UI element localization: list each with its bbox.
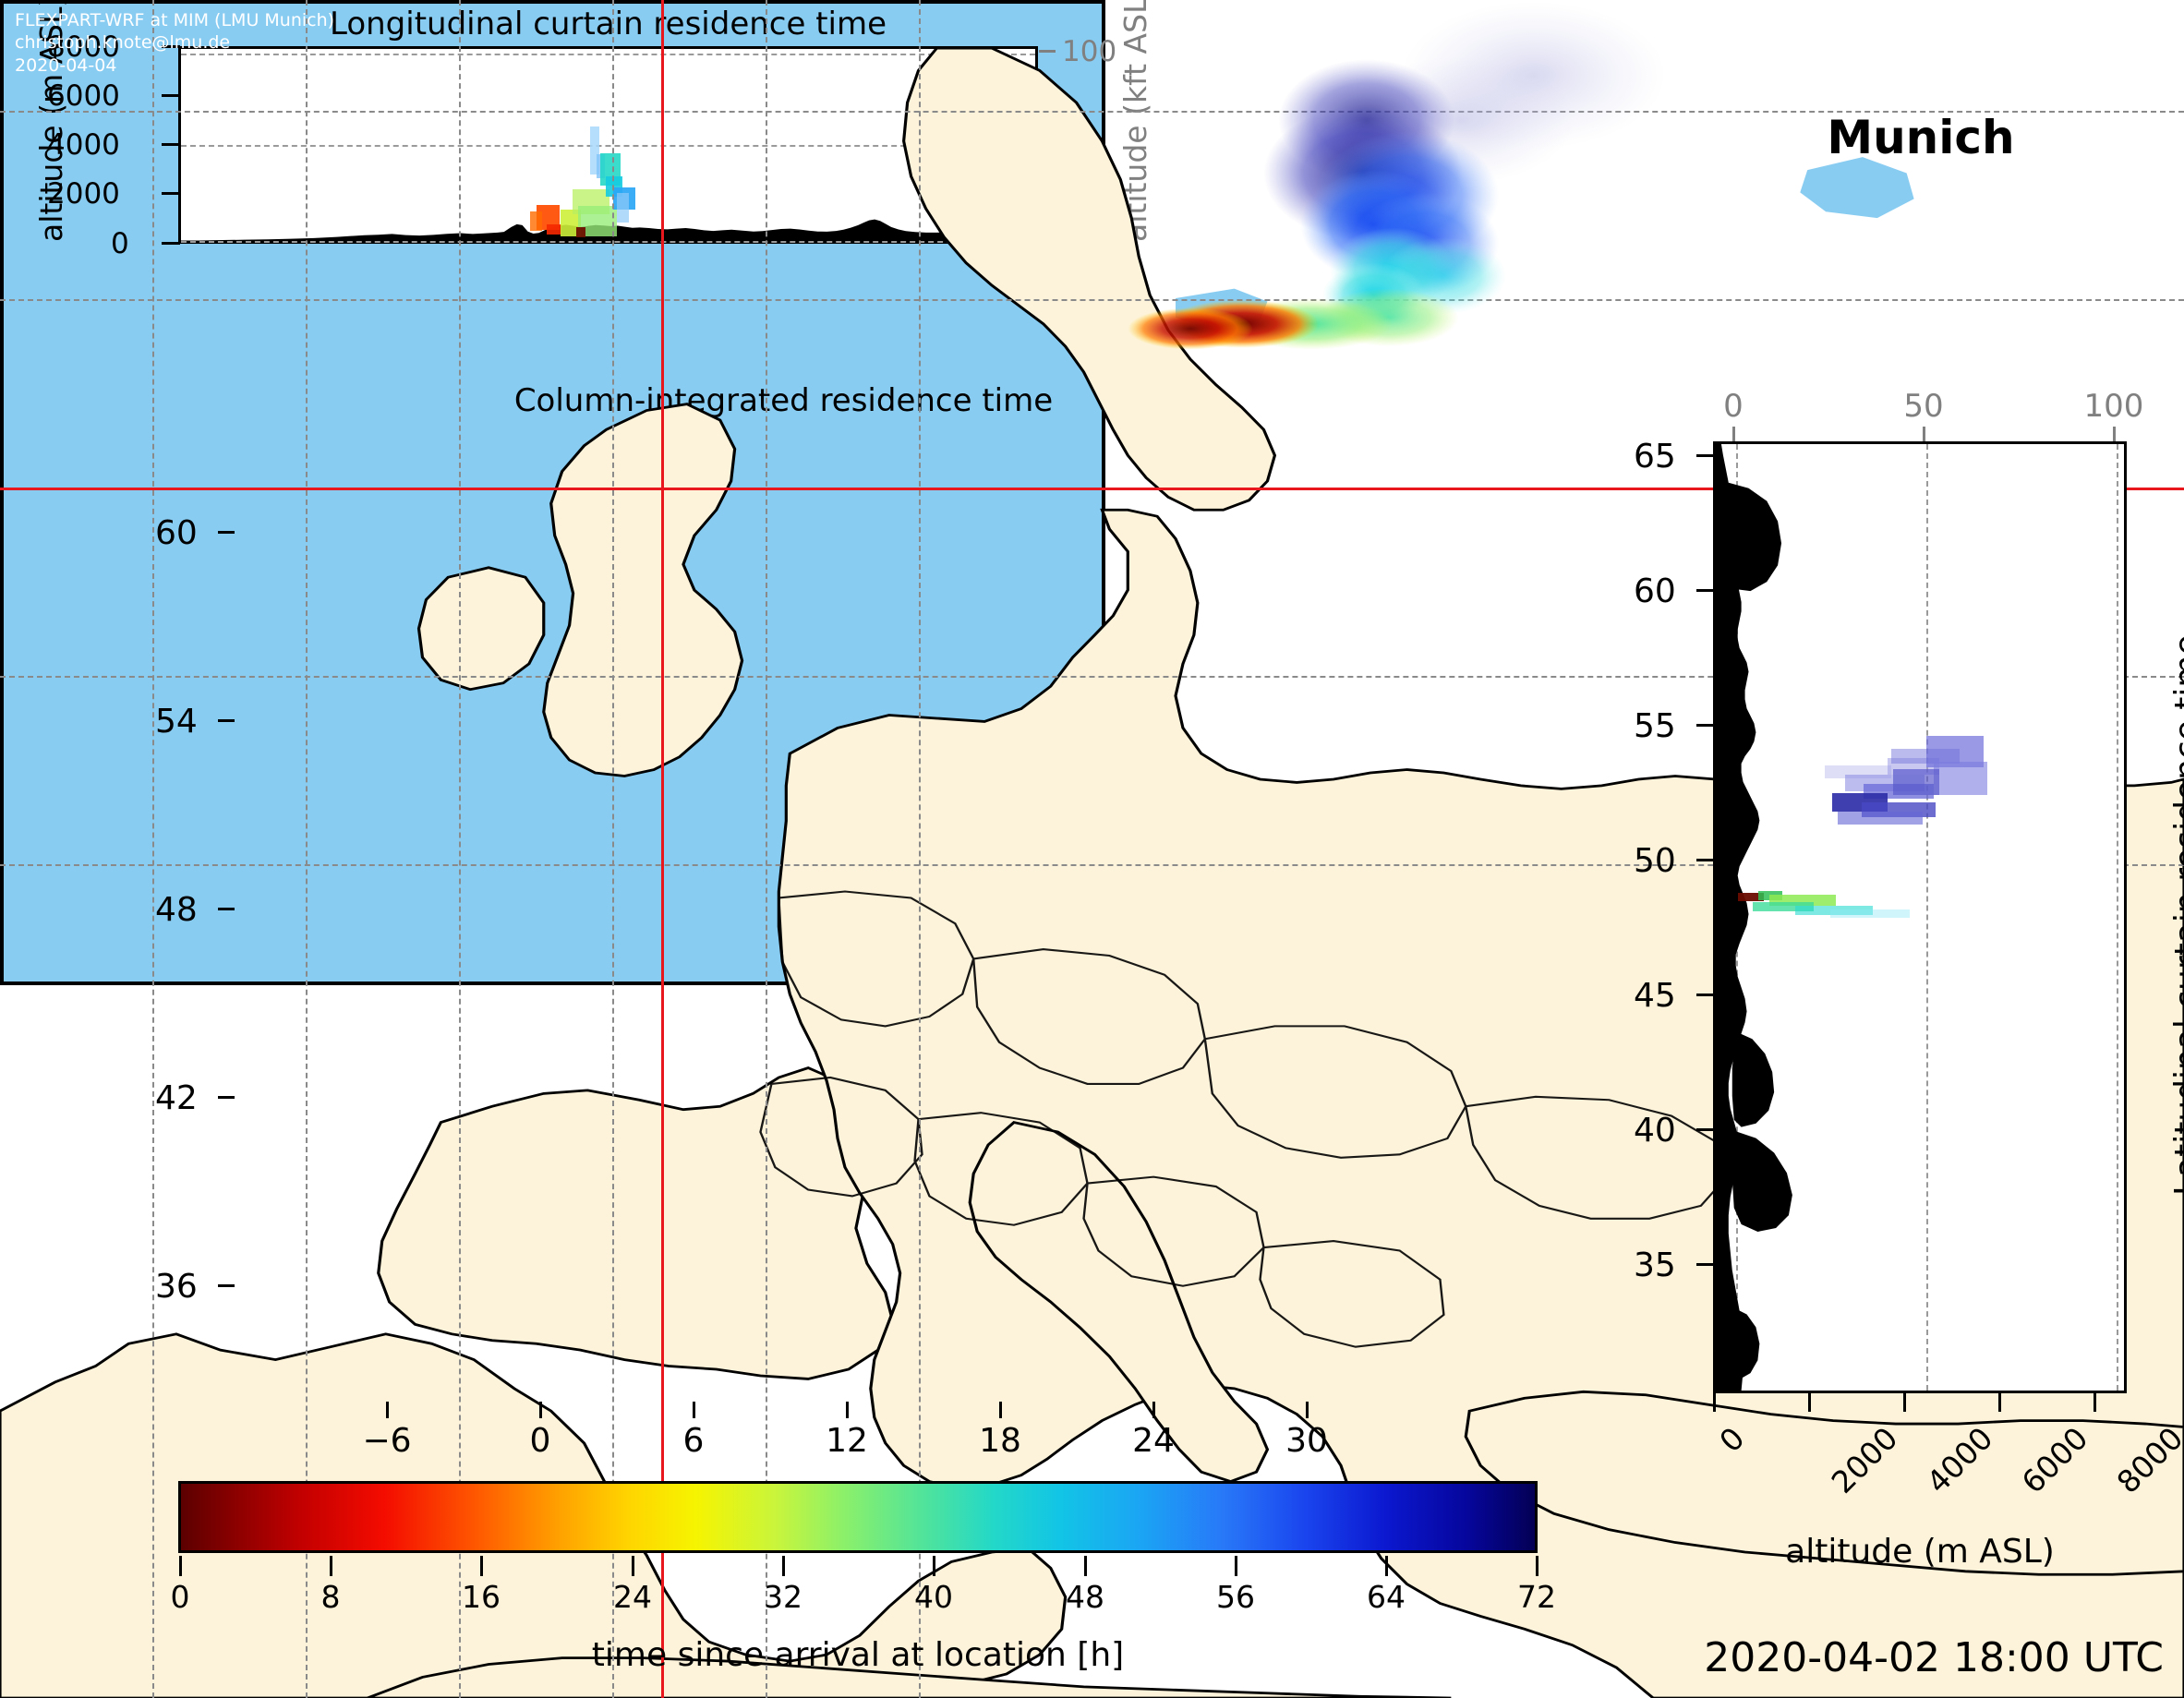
map-ytick-label: 42 <box>155 1079 198 1117</box>
colorbar-tick <box>1385 1556 1388 1576</box>
map-xtick-label: 0 <box>530 1422 551 1460</box>
map-ytick <box>218 719 235 722</box>
map-ytick-label: 48 <box>155 891 198 929</box>
colorbar <box>178 1481 1538 1553</box>
right-ytick <box>1696 454 1713 457</box>
map-ytick-label: 54 <box>155 703 198 741</box>
map-xtick-label: 24 <box>1132 1422 1175 1460</box>
map-ytick-label: 60 <box>155 514 198 552</box>
right-ytick-label: 35 <box>1634 1246 1676 1284</box>
map-xtick <box>999 1402 1002 1418</box>
residence-time-plume <box>0 0 1105 985</box>
right-ytick-label: 40 <box>1634 1112 1676 1150</box>
colorbar-tick-label: 32 <box>764 1579 802 1615</box>
colorbar-tick-label: 48 <box>1066 1579 1104 1615</box>
right-panel-xlabel: altitude (m ASL) <box>1713 1533 2127 1571</box>
colorbar-tick <box>632 1556 634 1576</box>
map-xtick-label: 30 <box>1285 1422 1328 1460</box>
colorbar-tick-label: 16 <box>462 1579 501 1615</box>
colorbar-tick <box>782 1556 785 1576</box>
colorbar-tick-label: 56 <box>1216 1579 1255 1615</box>
right-ytick-label: 55 <box>1634 707 1676 745</box>
colorbar-tick <box>1084 1556 1087 1576</box>
map-ytick-label: 36 <box>155 1268 198 1306</box>
colorbar-tick <box>480 1556 483 1576</box>
right-ytick <box>1696 1128 1713 1131</box>
colorbar-tick-label: 72 <box>1517 1579 1556 1615</box>
right-ytick <box>1696 859 1713 861</box>
map-xtick-label: 6 <box>683 1422 705 1460</box>
colorbar-tick-label: 8 <box>321 1579 341 1615</box>
colorbar-tick <box>330 1556 332 1576</box>
right-xtick <box>1713 1393 1716 1412</box>
plume-cell <box>1934 762 1987 795</box>
colorbar-tick <box>1235 1556 1237 1576</box>
right-panel-ylabel: Latitudinal curtain residence time <box>2168 634 2184 1196</box>
right-ytick-label: 50 <box>1634 842 1676 880</box>
map-ytick <box>218 1096 235 1099</box>
right-ytick-label: 45 <box>1634 977 1676 1015</box>
right-xtick <box>1998 1393 2001 1412</box>
right-ytick <box>1696 589 1713 592</box>
column-integrated-map[interactable]: FLEXPART-WRF at MIM (LMU Munich) christo… <box>0 0 1105 985</box>
colorbar-tick <box>1536 1556 1538 1576</box>
right-ytick-label: 60 <box>1634 572 1676 610</box>
right-top-tick <box>1732 427 1735 441</box>
colorbar-tick <box>179 1556 182 1576</box>
colorbar-label: time since arrival at location [h] <box>178 1636 1538 1674</box>
credit-line: FLEXPART-WRF at MIM (LMU Munich) <box>15 9 334 31</box>
map-xtick-label: 18 <box>979 1422 1021 1460</box>
right-xtick <box>1808 1393 1811 1412</box>
colorbar-tick <box>933 1556 935 1576</box>
colorbar-tick-label: 64 <box>1367 1579 1406 1615</box>
colorbar-tick-label: 0 <box>171 1579 190 1615</box>
map-xtick <box>1306 1402 1309 1418</box>
colorbar-tick-label: 24 <box>613 1579 652 1615</box>
right-ytick <box>1696 724 1713 727</box>
right-top-tick <box>1923 427 1925 441</box>
map-xtick <box>386 1402 389 1418</box>
map-ytick <box>218 1284 235 1287</box>
right-ytick-label: 65 <box>1634 438 1676 476</box>
map-xtick-label: −6 <box>362 1422 411 1460</box>
plume-cell <box>1838 812 1923 825</box>
right-top-tick-label: 0 <box>1723 388 1744 425</box>
credit-line: 2020-04-04 <box>15 54 334 77</box>
colorbar-tick-label: 40 <box>914 1579 953 1615</box>
right-xtick <box>2094 1393 2096 1412</box>
map-xtick <box>693 1402 695 1418</box>
right-xtick <box>1903 1393 1906 1412</box>
map-xtick-label: 12 <box>826 1422 868 1460</box>
right-top-tick-label: 100 <box>2084 388 2144 425</box>
map-xtick <box>539 1402 542 1418</box>
map-xtick <box>846 1402 849 1418</box>
right-ytick <box>1696 994 1713 996</box>
latitudinal-curtain-plot <box>1713 441 2127 1393</box>
right-ytick <box>1696 1263 1713 1266</box>
terrain-silhouette-icon <box>1716 444 2124 1391</box>
right-top-tick-label: 50 <box>1903 388 1943 425</box>
plume-cell <box>1893 769 1939 795</box>
map-ytick <box>218 908 235 910</box>
map-credit: FLEXPART-WRF at MIM (LMU Munich) christo… <box>15 9 334 77</box>
right-top-tick <box>2113 427 2116 441</box>
plume-cell <box>1830 909 1910 918</box>
credit-line: christoph.knote@lmu.de <box>15 31 334 54</box>
map-ytick <box>218 531 235 534</box>
map-xtick <box>1152 1402 1155 1418</box>
